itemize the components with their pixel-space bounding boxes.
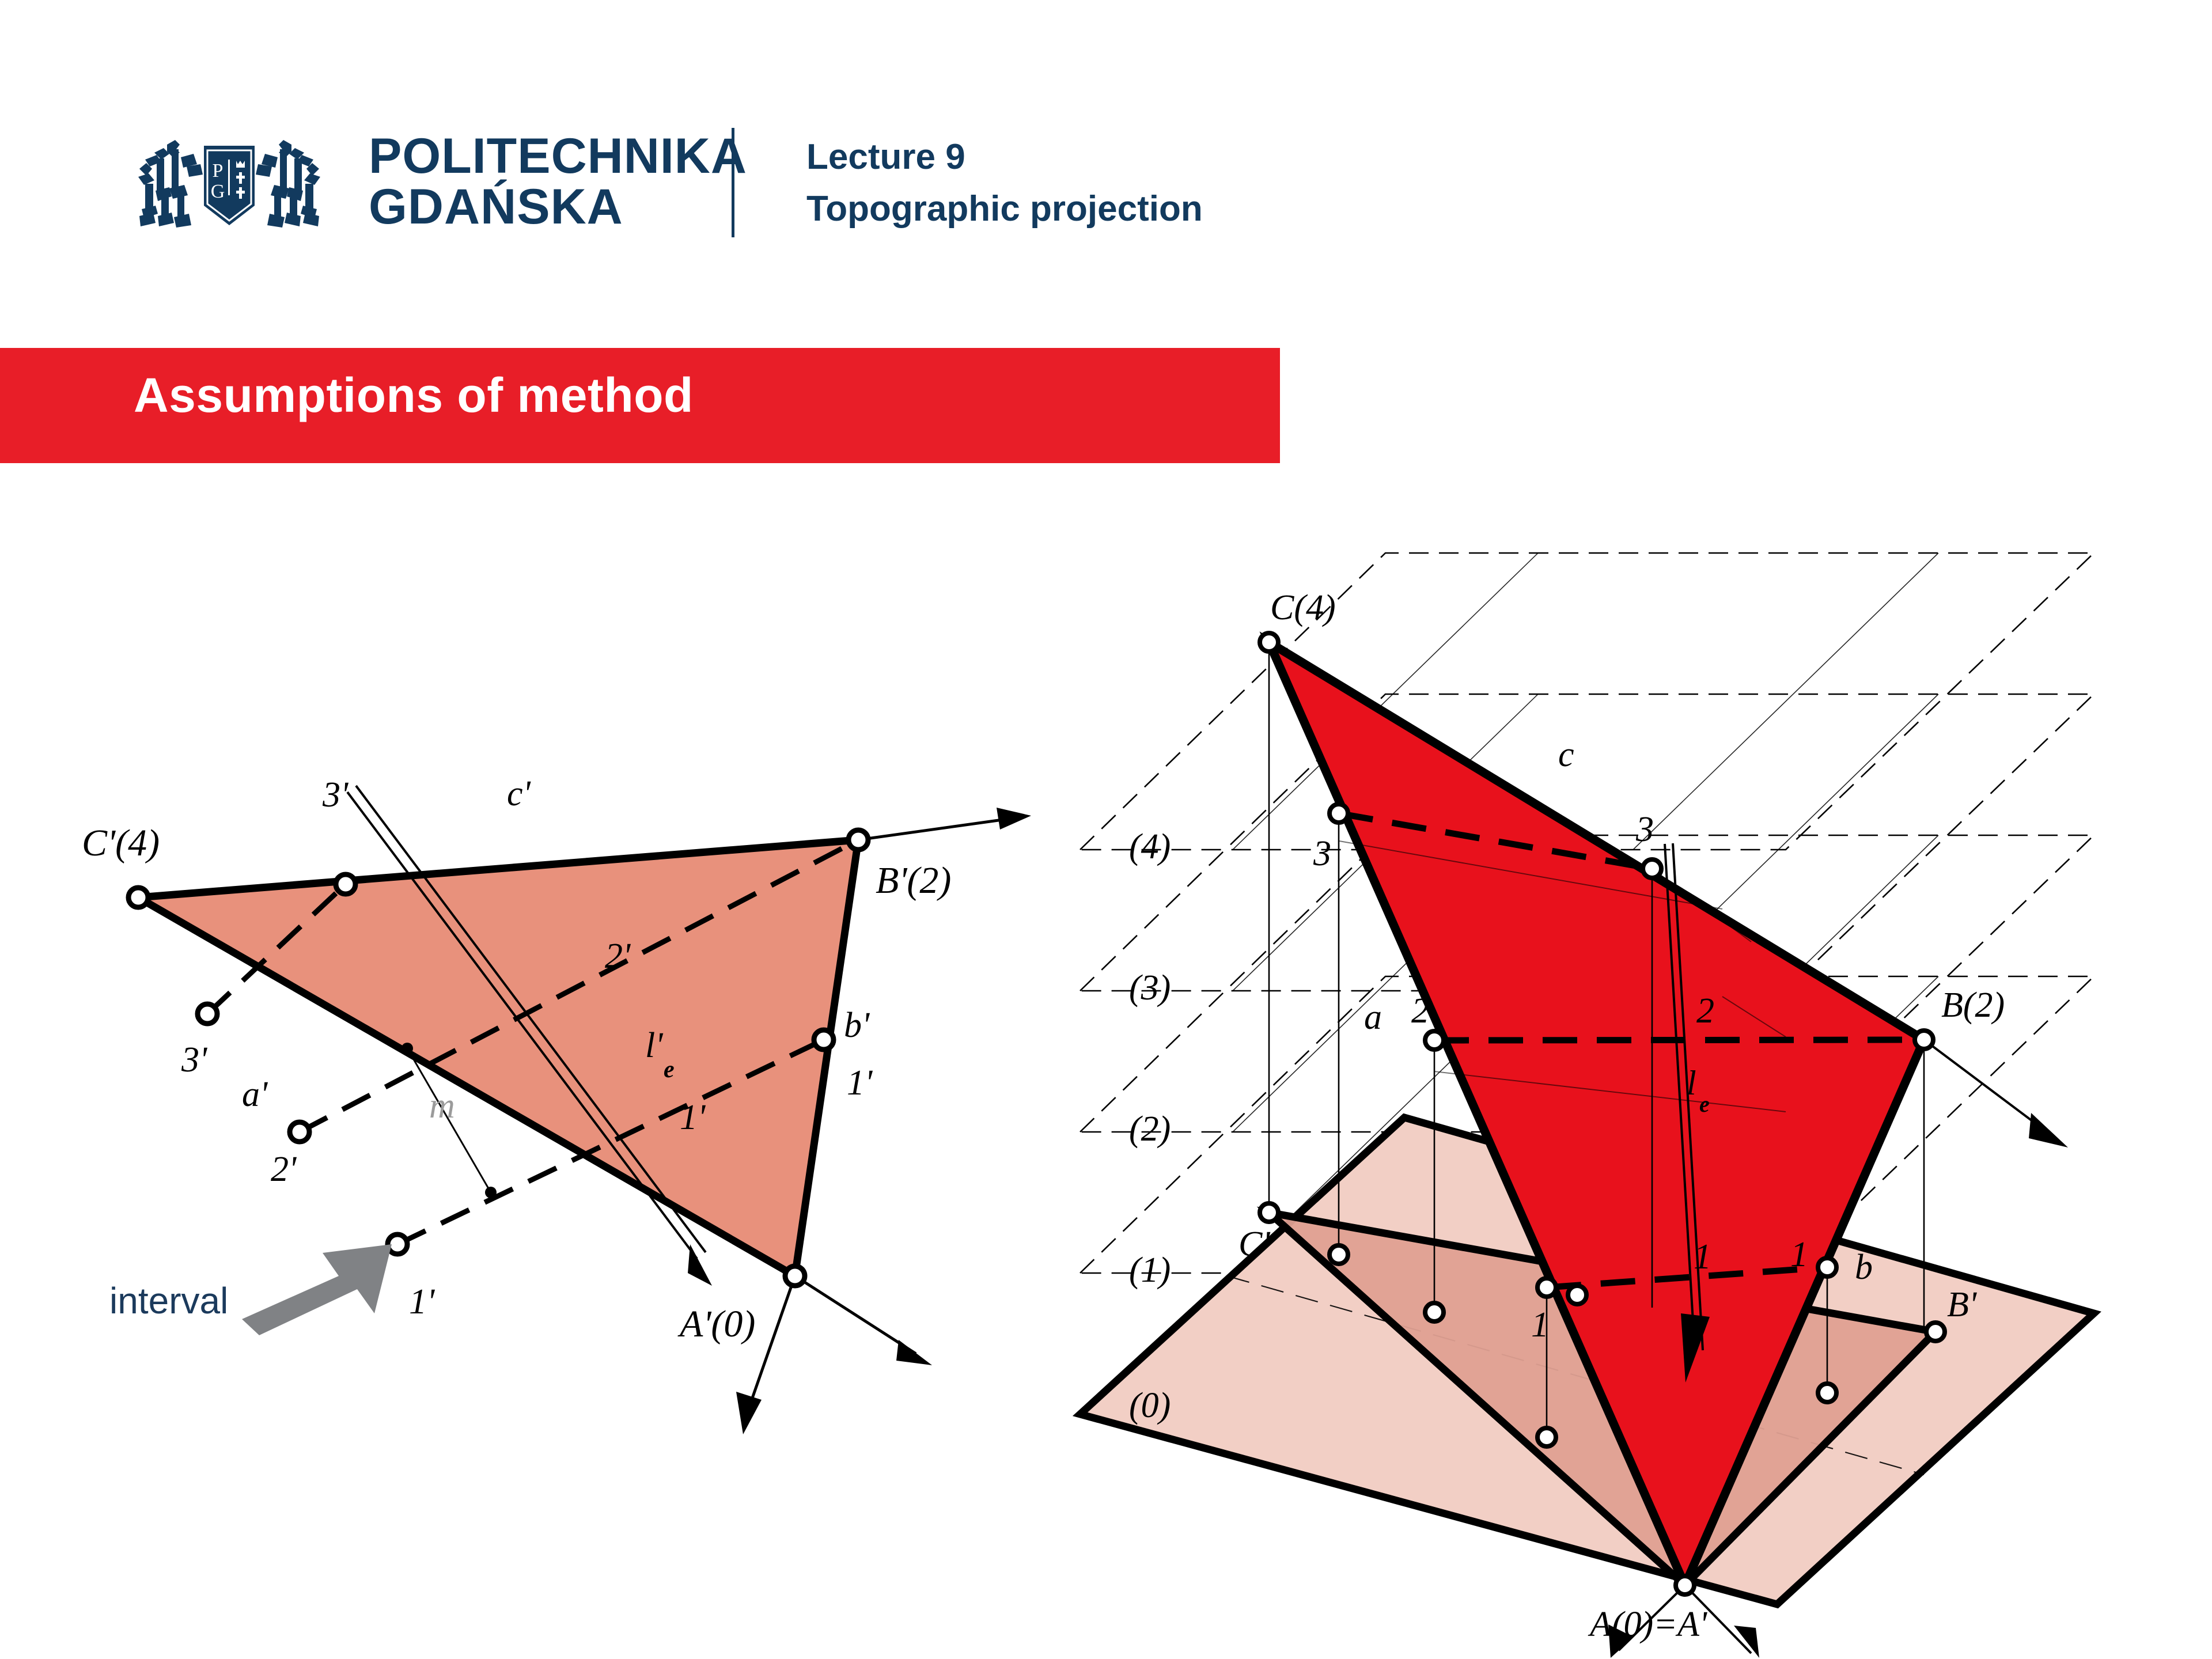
- interval-arrow-icon: [242, 1244, 392, 1335]
- interval-label: interval: [109, 1280, 228, 1321]
- plan-label-grade-1-right: 1': [847, 1063, 873, 1103]
- page-header: P G POLITECHNIKA GDAŃSKA Lecture 9 Topog…: [0, 0, 2212, 323]
- plan-rays-from-a: [736, 1276, 932, 1434]
- plan-m-point-lower: [485, 1187, 497, 1198]
- plan-triangle-fill: [138, 840, 858, 1276]
- shield-letter-g: G: [211, 181, 225, 202]
- spatial-label-level-1: (1): [1129, 1251, 1171, 1290]
- university-name-line2: GDAŃSKA: [369, 182, 747, 233]
- lion-right-icon: [256, 140, 320, 228]
- page-title: Assumptions of method: [134, 368, 694, 423]
- spatial-label-vertex-c: C(4): [1270, 588, 1336, 627]
- plan-label-edge-a: a': [242, 1075, 268, 1114]
- spatial-label-grade-1-proj: 1: [1531, 1305, 1549, 1344]
- plan-label-grade-3-top: 3': [322, 775, 349, 815]
- plan-label-m: m: [429, 1086, 455, 1126]
- spatial-label-level-3: (3): [1129, 968, 1171, 1007]
- spatial-label-vertex-b: B(2): [1941, 986, 2005, 1025]
- pg-logo: P G: [131, 124, 327, 245]
- spatial-ray-from-b: [1924, 1040, 2068, 1147]
- plan-label-vertex-b: B'(2): [876, 859, 951, 902]
- lecture-info: Lecture 9 Topographic projection: [806, 131, 1203, 235]
- spatial-label-edge-b: b: [1855, 1248, 1873, 1287]
- plan-label-grade-2-left: 2': [271, 1150, 297, 1189]
- figure-axonometric-projection: C(4) B(2) A(0)=A' C' B' 3 3 2 2 1 1 1 c …: [1037, 536, 2212, 1659]
- university-wordmark: POLITECHNIKA GDAŃSKA: [369, 131, 747, 232]
- header-divider: [732, 128, 734, 237]
- plan-label-steepest-line: l': [645, 1026, 664, 1065]
- spatial-label-level-0: (0): [1129, 1386, 1171, 1425]
- spatial-label-grade-2-right: 2: [1696, 991, 1714, 1031]
- spatial-label-steepest-line-subscript: e: [1699, 1091, 1710, 1117]
- spatial-label-vertex-b-proj: B': [1947, 1285, 1978, 1324]
- spatial-label-grade-3-left: 3: [1313, 834, 1331, 873]
- slide-title-banner: Assumptions of method: [0, 348, 1280, 463]
- university-name-line1: POLITECHNIKA: [369, 128, 747, 184]
- lecture-topic: Topographic projection: [806, 183, 1203, 235]
- spatial-label-grade-3-right: 3: [1635, 810, 1654, 849]
- lion-left-icon: [138, 140, 203, 228]
- spatial-label-steepest-line: l: [1687, 1064, 1696, 1102]
- shield-letter-p: P: [213, 160, 224, 181]
- spatial-label-vertex-a: A(0)=A': [1588, 1605, 1708, 1644]
- figure-topographic-plan: C'(4) B'(2) A'(0) 3' 3' 2' 2' 1' 1' 1' c…: [52, 737, 1077, 1636]
- plan-label-grade-1-mid: 1': [680, 1098, 706, 1137]
- plan-label-steepest-line-subscript: e: [664, 1056, 675, 1083]
- plan-label-vertex-a: A'(0): [677, 1303, 755, 1345]
- plan-ray-from-b: [858, 808, 1031, 840]
- spatial-label-edge-a: a: [1364, 998, 1382, 1037]
- spatial-label-edge-c: c: [1558, 735, 1574, 774]
- spatial-label-level-2: (2): [1129, 1109, 1171, 1149]
- plan-label-grade-1-left: 1': [409, 1282, 435, 1321]
- pg-crest-icon: P G: [131, 124, 327, 245]
- plan-label-grade-3-left: 3': [181, 1040, 208, 1080]
- spatial-label-grade-1-right: 1: [1790, 1235, 1808, 1274]
- spatial-label-grade-2-left: 2: [1411, 991, 1429, 1031]
- plan-label-grade-2-mid: 2': [605, 937, 631, 976]
- spatial-label-vertex-c-proj: C': [1238, 1225, 1271, 1264]
- plan-label-vertex-c: C'(4): [82, 822, 160, 864]
- spatial-label-grade-1-left: 1: [1694, 1237, 1711, 1277]
- spatial-label-level-4: (4): [1129, 827, 1171, 866]
- plan-m-point-upper: [402, 1043, 413, 1054]
- plan-label-edge-c: c': [507, 774, 532, 813]
- lecture-number: Lecture 9: [806, 131, 1203, 183]
- plan-label-edge-b: b': [844, 1006, 870, 1045]
